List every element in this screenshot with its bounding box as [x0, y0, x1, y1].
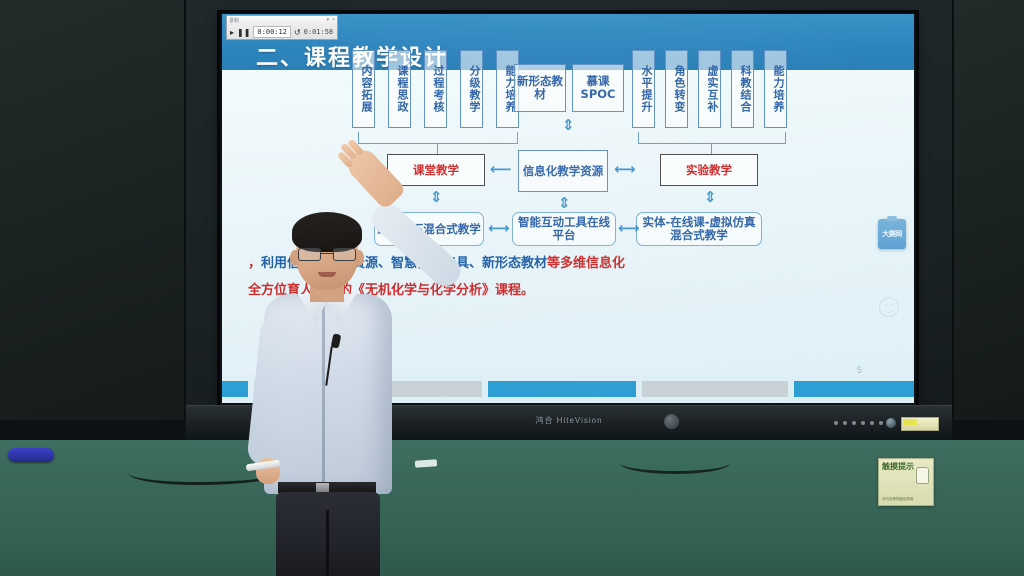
- competition-badge-icon: 大赛网: [878, 219, 906, 249]
- recorder-close-button[interactable]: ×: [332, 17, 335, 23]
- brace-right: [638, 132, 786, 144]
- eyeglasses: [298, 248, 356, 261]
- board-eraser[interactable]: [8, 448, 54, 462]
- slide-page-number: 5: [857, 365, 862, 375]
- node-experimental-teaching[interactable]: 实验教学: [660, 154, 758, 186]
- paragraph-line2-suffix: 课程。: [495, 283, 534, 298]
- tag-left-4[interactable]: 分级教学: [460, 50, 483, 128]
- bezel-control-buttons[interactable]: [834, 421, 883, 425]
- arrow-bottom-right-link: ⟷: [618, 221, 640, 236]
- node-classroom-teaching[interactable]: 课堂教学: [387, 154, 485, 186]
- arrow-bottom-left-link: ⟷: [488, 221, 510, 236]
- tag-center-1[interactable]: 新形态教材: [514, 64, 566, 112]
- competition-badge-label: 大赛网: [882, 229, 902, 239]
- classroom-scene: 二、课程教学设计 内容拓展 课程思政 过程考核 分级教学 能力培养 新形态教材 …: [0, 0, 1024, 576]
- tag-right-4[interactable]: 科教结合: [731, 50, 754, 128]
- paragraph-line1-suffix: 等多维信息化: [547, 256, 625, 271]
- arrow-experiment-down: ⇕: [704, 190, 717, 205]
- arrow-left-to-center: ⟵: [490, 162, 512, 177]
- recorder-elapsed-time: 0:00:12: [253, 26, 291, 38]
- tag-right-5[interactable]: 能力培养: [764, 50, 787, 128]
- right-chalkboard-panel: [952, 0, 1024, 420]
- tag-right-3[interactable]: 虚实互补: [698, 50, 721, 128]
- node-smart-tools-platform[interactable]: 智能互动工具在线平台: [512, 212, 616, 246]
- arrow-resources-down: ⇕: [558, 196, 571, 211]
- tag-left-1[interactable]: 内容拓展: [352, 50, 375, 128]
- shirt-placket: [322, 306, 325, 486]
- recorder-minimize-button[interactable]: ▾: [327, 17, 330, 23]
- screen-recorder-toolbar[interactable]: 录制 ▾ × ▸ ❚❚ 0:00:12 ↺ 0:01:58: [226, 15, 338, 40]
- tag-left-3[interactable]: 过程考核: [424, 50, 447, 128]
- pause-icon[interactable]: ❚❚: [237, 28, 250, 37]
- presenter-mouth: [318, 272, 336, 277]
- tag-right-2[interactable]: 角色转变: [665, 50, 688, 128]
- poster-note: 请勿用硬物触碰屏幕: [882, 497, 914, 502]
- touch-hint-poster: 触摸提示 请勿用硬物触碰屏幕: [878, 458, 934, 506]
- recorder-window-label: 录制: [229, 17, 239, 24]
- belt-buckle: [316, 483, 329, 492]
- hanging-cable-secondary: [620, 452, 730, 474]
- certification-sticker: [901, 417, 939, 431]
- left-chalkboard-panel: [0, 0, 186, 420]
- recorder-total-time: 0:01:58: [304, 28, 334, 36]
- presenter-person: [248, 210, 428, 576]
- node-informationized-resources[interactable]: 信息化教学资源: [518, 150, 608, 192]
- power-icon[interactable]: [664, 414, 679, 429]
- presenter-hair: [292, 212, 362, 252]
- arrow-center-to-right: ⟷: [614, 162, 636, 177]
- node-hybrid-simulation[interactable]: 实体-在线课-虚拟仿真混合式教学: [636, 212, 762, 246]
- smiley-watermark-icon: [879, 297, 899, 317]
- arrow-classroom-down: ⇕: [430, 190, 443, 205]
- brace-left: [358, 132, 518, 144]
- arrow-center-down: ⇕: [562, 118, 575, 133]
- tag-center-2[interactable]: 慕课SPOC: [572, 64, 624, 112]
- tag-right-1[interactable]: 水平提升: [632, 50, 655, 128]
- recorder-titlebar: 录制 ▾ ×: [227, 16, 337, 24]
- recorder-controls-row: ▸ ❚❚ 0:00:12 ↺ 0:01:58: [227, 24, 337, 40]
- trouser-seam: [326, 510, 329, 576]
- loop-icon[interactable]: ↺: [294, 28, 301, 37]
- play-icon[interactable]: ▸: [230, 28, 234, 37]
- hand-touch-icon: [916, 467, 929, 484]
- bezel-knob[interactable]: [886, 418, 896, 428]
- tag-left-2[interactable]: 课程思政: [388, 50, 411, 128]
